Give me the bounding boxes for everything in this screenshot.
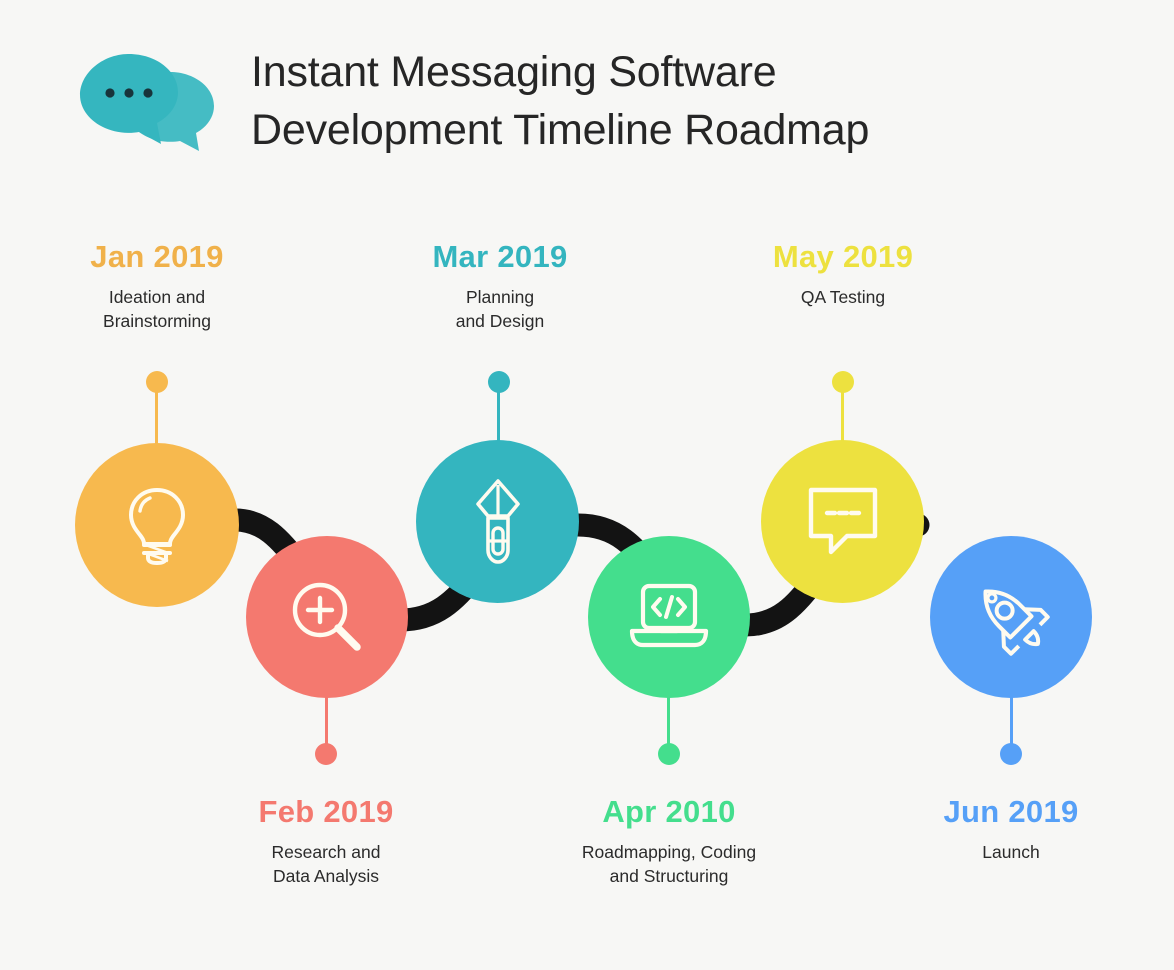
magnifier-plus-icon: [287, 577, 367, 657]
milestone-date: Feb 2019: [206, 795, 446, 829]
milestone-icon-circle-feb[interactable]: [246, 536, 408, 698]
milestone-icon-circle-apr[interactable]: [588, 536, 750, 698]
pen-nib-icon: [466, 476, 530, 568]
milestone-icon-circle-jan[interactable]: [75, 443, 239, 607]
rocket-icon: [969, 575, 1053, 659]
milestone-stem: [1010, 697, 1013, 749]
milestone-date: Mar 2019: [380, 240, 620, 274]
milestone-caption-jun: Jun 2019 Launch: [891, 795, 1131, 865]
milestone-stem: [155, 390, 158, 446]
milestone-dot: [315, 743, 337, 765]
milestone-icon-circle-mar[interactable]: [416, 440, 579, 603]
milestone-caption-may: May 2019 QA Testing: [723, 240, 963, 310]
milestone-dot: [1000, 743, 1022, 765]
milestone-date: Apr 2010: [549, 795, 789, 829]
milestone-description: Ideation and Brainstorming: [37, 286, 277, 333]
milestone-description: Launch: [891, 841, 1131, 865]
infographic-canvas: Instant Messaging Software Development T…: [0, 0, 1174, 970]
milestone-stem: [497, 390, 500, 443]
milestone-stem: [325, 697, 328, 749]
chat-bubble-dots-icon: [801, 482, 885, 562]
laptop-code-icon: [626, 581, 712, 653]
header: Instant Messaging Software Development T…: [75, 36, 869, 166]
milestone-stem: [667, 697, 670, 749]
page-title: Instant Messaging Software Development T…: [251, 43, 869, 159]
milestone-icon-circle-jun[interactable]: [930, 536, 1092, 698]
milestone-date: Jan 2019: [37, 240, 277, 274]
milestone-icon-circle-may[interactable]: [761, 440, 924, 603]
milestone-caption-feb: Feb 2019 Research and Data Analysis: [206, 795, 446, 888]
milestone-date: Jun 2019: [891, 795, 1131, 829]
milestone-description: Planning and Design: [380, 286, 620, 333]
milestone-caption-jan: Jan 2019 Ideation and Brainstorming: [37, 240, 277, 333]
milestone-stem: [841, 390, 844, 443]
milestone-dot: [658, 743, 680, 765]
milestone-caption-mar: Mar 2019 Planning and Design: [380, 240, 620, 333]
lightbulb-icon: [119, 483, 195, 567]
milestone-description: Roadmapping, Coding and Structuring: [549, 841, 789, 888]
chat-bubbles-icon: [75, 36, 225, 166]
milestone-caption-apr: Apr 2010 Roadmapping, Coding and Structu…: [549, 795, 789, 888]
milestone-description: Research and Data Analysis: [206, 841, 446, 888]
milestone-description: QA Testing: [723, 286, 963, 310]
milestone-date: May 2019: [723, 240, 963, 274]
